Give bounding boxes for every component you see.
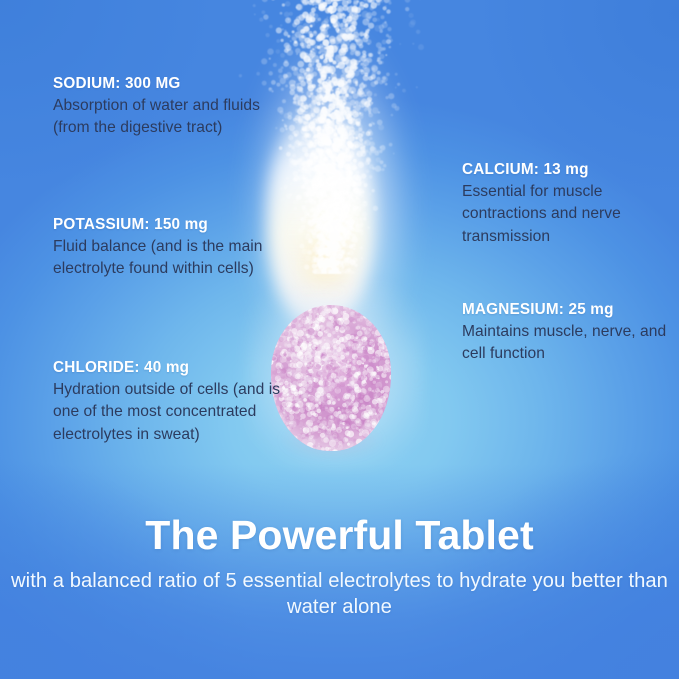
product-infographic-poster: SODIUM: 300 MG Absorption of water and f… bbox=[0, 0, 679, 679]
footer-title: The Powerful Tablet bbox=[0, 512, 679, 559]
nutrient-heading-chloride: CHLORIDE: 40 mg bbox=[53, 358, 285, 378]
nutrient-body-sodium: Absorption of water and fluids (from the… bbox=[53, 95, 285, 140]
nutrient-callout-calcium: CALCIUM: 13 mg Essential for muscle cont… bbox=[462, 160, 676, 248]
nutrient-body-magnesium: Maintains muscle, nerve, and cell functi… bbox=[462, 321, 676, 366]
nutrient-body-potassium: Fluid balance (and is the main electroly… bbox=[53, 236, 285, 281]
nutrient-callout-chloride: CHLORIDE: 40 mg Hydration outside of cel… bbox=[53, 358, 285, 446]
tablet-rim-highlight bbox=[271, 305, 391, 451]
nutrient-callout-magnesium: MAGNESIUM: 25 mg Maintains muscle, nerve… bbox=[462, 300, 676, 366]
nutrient-heading-magnesium: MAGNESIUM: 25 mg bbox=[462, 300, 676, 320]
nutrient-heading-potassium: POTASSIUM: 150 mg bbox=[53, 215, 285, 235]
nutrient-heading-calcium: CALCIUM: 13 mg bbox=[462, 160, 676, 180]
nutrient-body-chloride: Hydration outside of cells (and is one o… bbox=[53, 379, 285, 446]
effervescent-tablet bbox=[271, 305, 391, 451]
nutrient-callout-sodium: SODIUM: 300 MG Absorption of water and f… bbox=[53, 74, 285, 140]
nutrient-body-calcium: Essential for muscle contractions and ne… bbox=[462, 181, 676, 248]
nutrient-heading-sodium: SODIUM: 300 MG bbox=[53, 74, 285, 94]
footer-subtitle: with a balanced ratio of 5 essential ele… bbox=[0, 568, 679, 621]
footer-block: The Powerful Tablet with a balanced rati… bbox=[0, 512, 679, 621]
nutrient-callout-potassium: POTASSIUM: 150 mg Fluid balance (and is … bbox=[53, 215, 285, 281]
